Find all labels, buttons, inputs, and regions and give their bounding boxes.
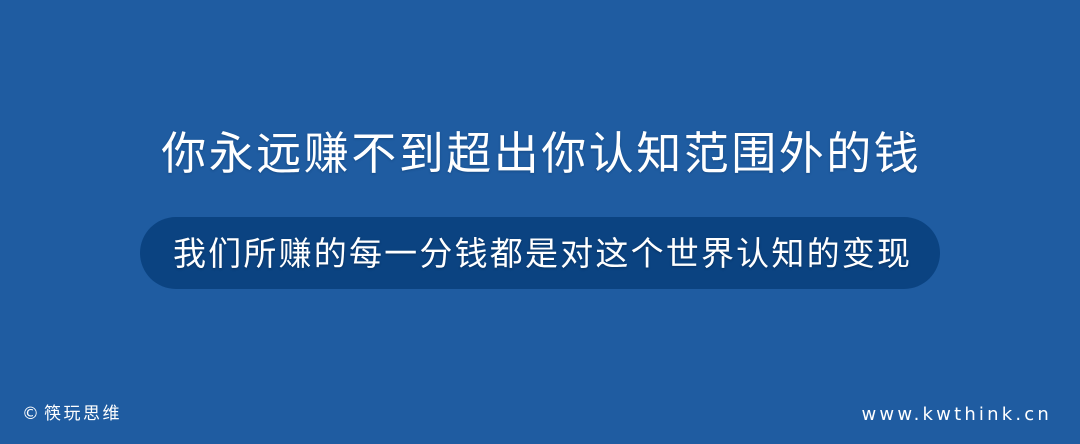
subtitle-text: 我们所赚的每一分钱都是对这个世界认知的变现 (171, 237, 912, 270)
headline-text: 你永远赚不到超出你认知范围外的钱 (0, 122, 1080, 184)
website-url: www.kwthink.cn (861, 406, 1052, 424)
brand-name: 筷玩思维 (44, 406, 122, 423)
quote-card: 你永远赚不到超出你认知范围外的钱 我们所赚的每一分钱都是对这个世界认知的变现 ©… (0, 0, 1080, 444)
subtitle-pill: 我们所赚的每一分钱都是对这个世界认知的变现 (140, 217, 940, 289)
footer-attribution: © 筷玩思维 (22, 406, 122, 423)
subtitle-pill-wrap: 我们所赚的每一分钱都是对这个世界认知的变现 (0, 217, 1080, 289)
copyright-icon: © (22, 406, 41, 423)
